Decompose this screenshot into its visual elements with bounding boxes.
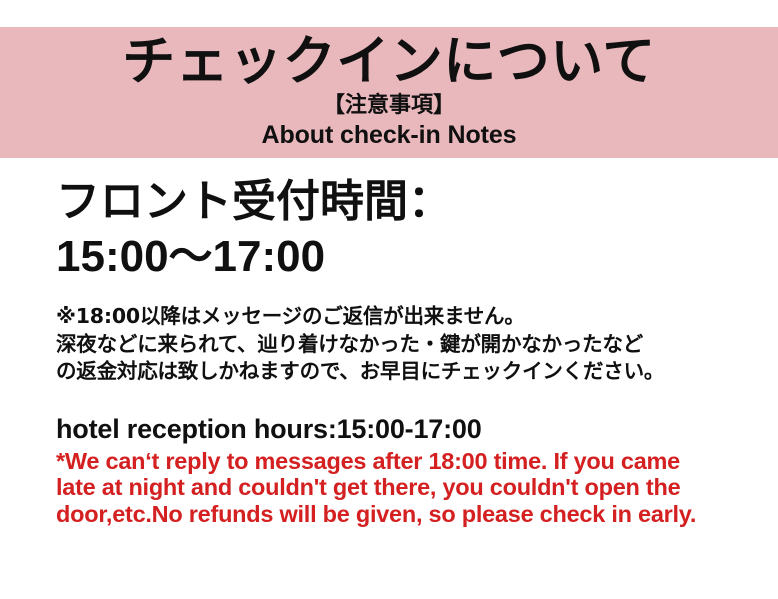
japanese-note-line-1: ※18:00以降はメッセージのご返信が出来ません。 — [56, 303, 756, 331]
banner-subtitle-english: About check-in Notes — [0, 119, 778, 150]
notice-body: フロント受付時間： 15:00〜17:00 ※18:00以降はメッセージのご返信… — [56, 174, 756, 527]
reception-hours-english: hotel reception hours:15:00-17:00 — [56, 386, 756, 446]
english-warning-line-2: late at night and couldn't get there, yo… — [56, 474, 756, 501]
page-title: チェックインについて — [0, 27, 778, 92]
reception-hours-value: 15:00〜17:00 — [56, 230, 756, 284]
japanese-note-line-3: の返金対応は致しかねますので、お早目にチェックインください。 — [56, 358, 756, 386]
english-warning-notes: *We can‘t reply to messages after 18:00 … — [56, 446, 756, 528]
banner-subtitle-japanese: 【注意事項】 — [0, 92, 778, 119]
japanese-notes: ※18:00以降はメッセージのご返信が出来ません。 深夜などに来られて、辿り着け… — [56, 284, 756, 386]
reception-hours-heading: フロント受付時間： — [56, 174, 756, 230]
header-banner: チェックインについて 【注意事項】 About check-in Notes — [0, 27, 778, 158]
english-warning-line-1: *We can‘t reply to messages after 18:00 … — [56, 448, 756, 475]
english-warning-line-3: door,etc.No refunds will be given, so pl… — [56, 501, 756, 528]
japanese-note-line-2: 深夜などに来られて、辿り着けなかった・鍵が開かなかったなど — [56, 331, 756, 359]
notice-page: チェックインについて 【注意事項】 About check-in Notes フ… — [0, 0, 778, 599]
